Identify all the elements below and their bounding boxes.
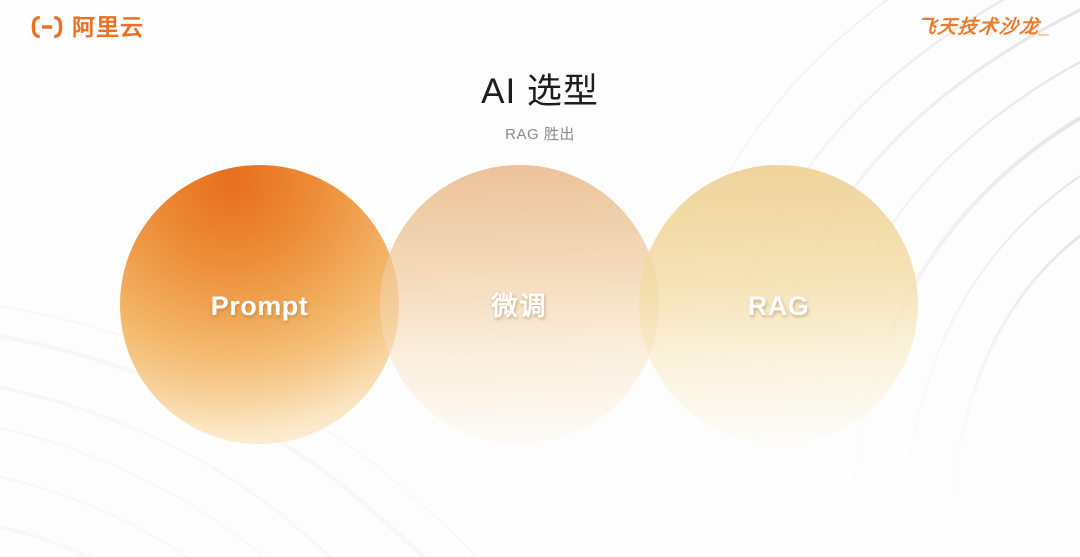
venn-label-finetune: 微调: [380, 293, 659, 319]
venn-label-prompt: Prompt: [120, 293, 399, 320]
slide-canvas: 阿里云 飞天技术沙龙_ AI 选型 RAG 胜出 Prompt 微调 RAG: [0, 0, 1080, 557]
venn-circle-finetune: 微调: [380, 165, 659, 444]
venn-circle-prompt: Prompt: [120, 165, 399, 444]
venn-label-rag: RAG: [639, 293, 918, 320]
venn-circle-rag: RAG: [639, 165, 918, 444]
venn-diagram: Prompt 微调 RAG: [0, 0, 1080, 557]
